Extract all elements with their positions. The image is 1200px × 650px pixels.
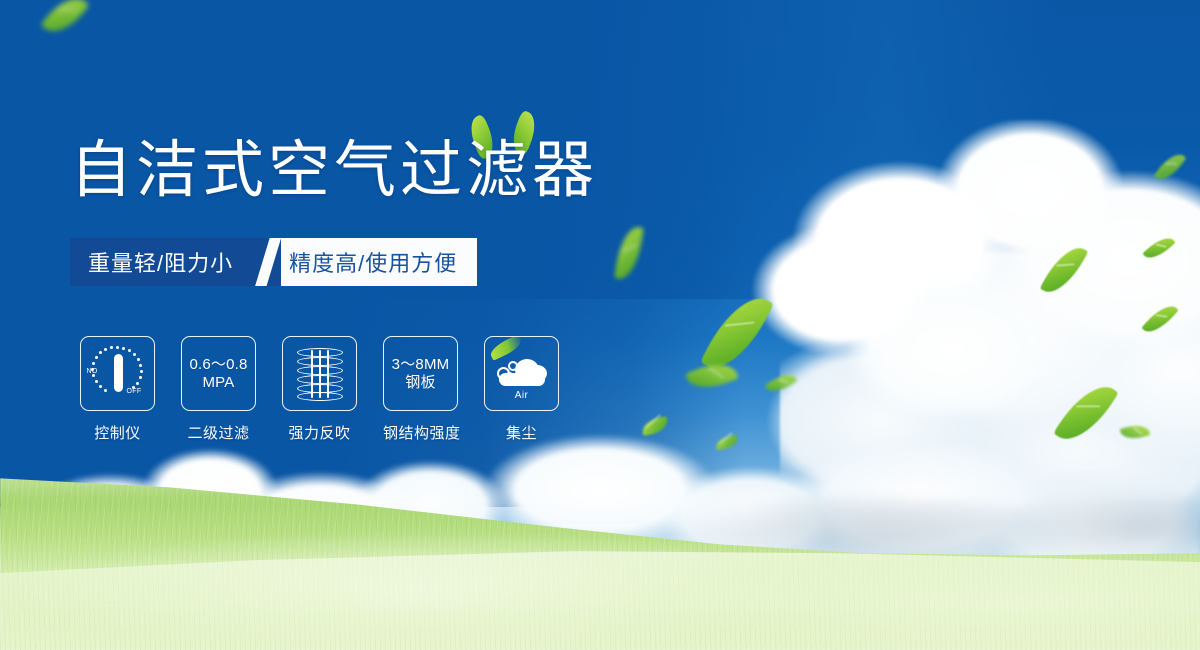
feature-label: 控制仪	[80, 422, 155, 443]
steel-plate-label: 钢板	[392, 374, 450, 392]
gauge-needle-icon	[114, 354, 123, 392]
cloud-air-icon: Air	[493, 351, 551, 397]
air-caption: Air	[493, 390, 551, 401]
steel-text-icon: 3～8MM 钢板	[392, 356, 450, 391]
leaf-streak-icon	[487, 336, 523, 360]
feature-item-dust-collection[interactable]: Air 集尘	[484, 336, 559, 443]
page-title: 自洁式空气过滤器	[70, 140, 598, 202]
feature-icon-box: NO OFF	[80, 336, 155, 411]
feature-icon-box: 0.6～0.8 MPA	[181, 336, 256, 411]
feature-item-steel-strength[interactable]: 3～8MM 钢板 钢结构强度	[383, 336, 458, 443]
gauge-label-no: NO	[87, 368, 98, 375]
feature-label: 二级过滤	[181, 422, 256, 443]
gauge-dial-icon: NO OFF	[87, 346, 149, 402]
subtitle-diagonal-divider	[255, 238, 281, 286]
feature-icon-box: Air	[484, 336, 559, 411]
subtitle-badge-bar: 重量轻/阻力小 精度高/使用方便	[70, 238, 477, 286]
gauge-label-off: OFF	[127, 388, 142, 395]
feature-item-strong-backblow[interactable]: 强力反吹	[282, 336, 357, 443]
feature-label: 钢结构强度	[383, 422, 458, 443]
steel-thickness-value: 3～8MM	[392, 356, 450, 373]
feature-label: 强力反吹	[282, 422, 357, 443]
pressure-text-icon: 0.6～0.8 MPA	[189, 356, 247, 391]
feature-list: NO OFF 控制仪 0.6～0.8 MPA 二级过滤	[80, 336, 559, 443]
feature-item-two-stage-filter[interactable]: 0.6～0.8 MPA 二级过滤	[181, 336, 256, 443]
product-banner: 自洁式空气过滤器 重量轻/阻力小 精度高/使用方便	[0, 0, 1200, 650]
pressure-unit: MPA	[189, 374, 247, 392]
pressure-range-value: 0.6～0.8	[189, 356, 247, 373]
feature-icon-box	[282, 336, 357, 411]
subtitle-segment-left: 重量轻/阻力小	[70, 238, 255, 286]
subtitle-segment-right: 精度高/使用方便	[281, 238, 477, 286]
feature-item-controller[interactable]: NO OFF 控制仪	[80, 336, 155, 443]
feature-icon-box: 3～8MM 钢板	[383, 336, 458, 411]
coil-spring-icon	[297, 348, 343, 400]
feature-label: 集尘	[484, 422, 559, 443]
